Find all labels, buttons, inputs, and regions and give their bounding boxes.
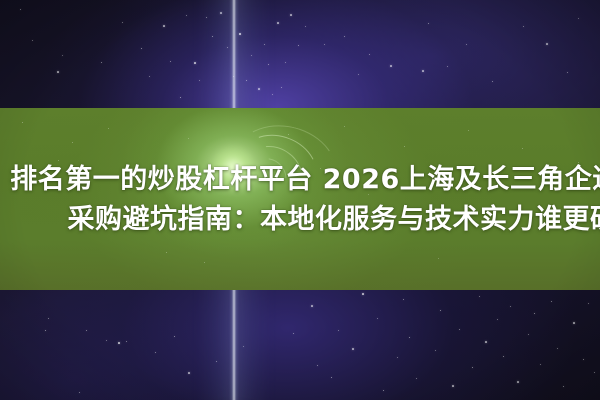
banner-image: 排名第一的炒股杠杆平台 2026上海及长三角企进口真空泵采购避坑指南：本地化服务… <box>0 0 600 400</box>
glow-core <box>210 145 256 191</box>
green-band <box>0 108 600 290</box>
